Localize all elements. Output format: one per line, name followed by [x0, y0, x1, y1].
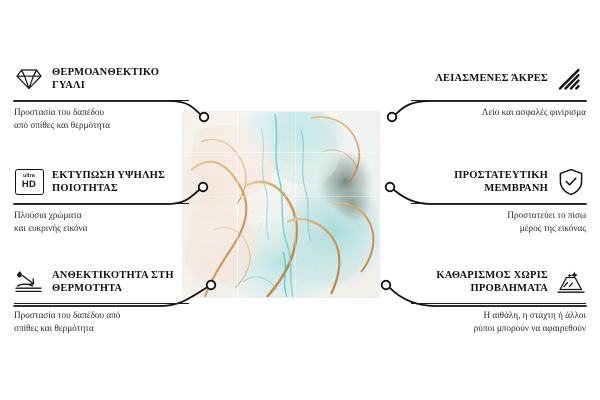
feature-title: ΕΚΤΥΠΩΣΗ ΥΨΗΛΗΣ ΠΟΙΟΤΗΤΑΣ — [52, 169, 189, 196]
feature-high-quality-print[interactable]: ultra HD ΕΚΤΥΠΩΣΗ ΥΨΗΛΗΣ ΠΟΙΟΤΗΤΑΣ Πλούσ… — [14, 165, 189, 235]
feature-protective-membrane[interactable]: ΠΡΟΣΤΑΤΕΥΤΙΚΗ ΜΕΜΒΡΑΝΗ Προστατεύει το πί… — [411, 165, 586, 235]
feature-polished-edges[interactable]: ΛΕΙΑΣΜΕΝΕΣ ΆΚΡΕΣ Λείο και ασφαλές φινίρι… — [411, 62, 586, 119]
feature-divider — [411, 100, 586, 101]
feature-title: ΠΡΟΣΤΑΤΕΥΤΙΚΗ ΜΕΜΒΡΑΝΗ — [411, 169, 548, 196]
feature-header: ΠΡΟΣΤΑΤΕΥΤΙΚΗ ΜΕΜΒΡΑΝΗ — [411, 165, 586, 199]
product-image-wrap — [183, 112, 397, 297]
feature-heat-resistant-glass[interactable]: ΘΕΡΜΟΑΝΘΕΚΤΙΚΟ ΓΥΑΛΙ Προστασία του δαπέδ… — [14, 62, 189, 132]
flame-deflect-icon — [14, 267, 44, 297]
feature-divider — [411, 203, 586, 204]
feature-header: ultra HD ΕΚΤΥΠΩΣΗ ΥΨΗΛΗΣ ΠΟΙΟΤΗΤΑΣ — [14, 165, 189, 199]
diamond-icon — [14, 64, 44, 94]
feature-description: Η αιθάλη, η στάχτη ή άλλοι ρύποι μπορούν… — [411, 309, 586, 335]
ultra-hd-icon-main-label: HD — [22, 180, 36, 190]
feature-divider — [14, 203, 189, 204]
feature-divider — [411, 303, 586, 304]
striped-triangle-icon — [556, 64, 586, 94]
feature-easy-cleaning[interactable]: ΚΑΘΑΡΙΣΜΟΣ ΧΩΡΙΣ ΠΡΟΒΛΗΜΑΤΑ Η αιθάλη, η … — [411, 265, 586, 335]
shield-check-icon — [556, 167, 586, 197]
wipe-sparkle-icon — [556, 267, 586, 297]
feature-title: ΘΕΡΜΟΑΝΘΕΚΤΙΚΟ ΓΥΑΛΙ — [52, 66, 189, 93]
feature-title: ΛΕΙΑΣΜΕΝΕΣ ΆΚΡΕΣ — [435, 72, 548, 85]
feature-divider — [14, 100, 189, 101]
infographic-stage: ΘΕΡΜΟΑΝΘΕΚΤΙΚΟ ΓΥΑΛΙ Προστασία του δαπέδ… — [0, 0, 600, 400]
feature-description: Πλούσια χρώματα και ευκρινής εικόνα — [14, 209, 189, 235]
feature-header: ΚΑΘΑΡΙΣΜΟΣ ΧΩΡΙΣ ΠΡΟΒΛΗΜΑΤΑ — [411, 265, 586, 299]
product-image — [183, 112, 379, 297]
feature-header: ΘΕΡΜΟΑΝΘΕΚΤΙΚΟ ΓΥΑΛΙ — [14, 62, 189, 96]
feature-header: ΑΝΘΕΚΤΙΚΟΤΗΤΑ ΣΤΗ ΘΕΡΜΟΤΗΤΑ — [14, 265, 189, 299]
feature-title: ΑΝΘΕΚΤΙΚΟΤΗΤΑ ΣΤΗ ΘΕΡΜΟΤΗΤΑ — [52, 269, 189, 296]
feature-header: ΛΕΙΑΣΜΕΝΕΣ ΆΚΡΕΣ — [411, 62, 586, 96]
feature-heat-durability[interactable]: ΑΝΘΕΚΤΙΚΟΤΗΤΑ ΣΤΗ ΘΕΡΜΟΤΗΤΑ Προστασία το… — [14, 265, 189, 335]
feature-description: Λείο και ασφαλές φινίρισμα — [411, 106, 586, 119]
feature-description: Προστασία του δαπέδου από σπίθες και θερ… — [14, 106, 189, 132]
feature-description: Προστατεύει το πίσω μέρος της εικόνας — [411, 209, 586, 235]
feature-description: Προστασία του δαπέδου από σπίθες και θερ… — [14, 309, 189, 335]
feature-title: ΚΑΘΑΡΙΣΜΟΣ ΧΩΡΙΣ ΠΡΟΒΛΗΜΑΤΑ — [411, 269, 548, 296]
feature-divider — [14, 303, 189, 304]
ultra-hd-icon: ultra HD — [14, 167, 44, 197]
